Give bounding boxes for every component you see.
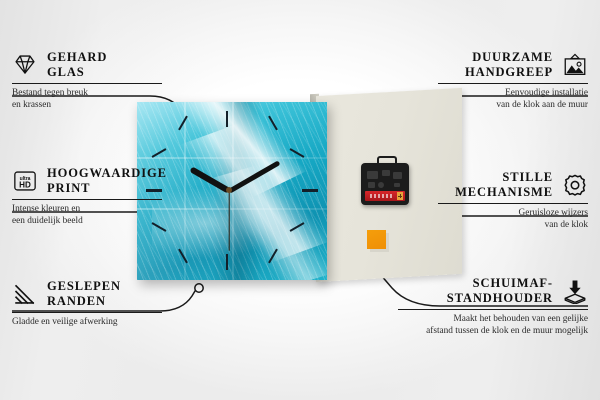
feature-desc-line1: Gladde en veilige afwerking (12, 317, 162, 328)
aa-battery (365, 191, 405, 201)
feature-title-line1: HOOGWAARDIGE (47, 166, 167, 181)
mechanism-detail (378, 182, 384, 188)
feature-title-line1: STILLE (455, 170, 553, 185)
feature-stille-mechanisme: STILLE MECHANISME Geruisloze wijzers van… (438, 170, 588, 231)
bevel-lines-icon (12, 281, 38, 307)
feature-title-line1: DUURZAME (465, 50, 553, 65)
mechanism-detail (382, 170, 390, 176)
feature-divider (438, 83, 588, 84)
feature-divider (398, 309, 588, 310)
feature-divider (12, 199, 162, 200)
mechanism-detail (367, 171, 378, 179)
diamond-icon (12, 52, 38, 78)
feature-desc-line1: Intense kleuren en (12, 204, 162, 215)
picture-frame-icon (562, 52, 588, 78)
feature-geslepen-randen: GESLEPEN RANDEN Gladde en veilige afwerk… (12, 279, 162, 329)
feature-title-line2: STANDHOUDER (447, 291, 553, 306)
feature-title-line1: SCHUIMAF- (447, 276, 553, 291)
gear-icon (562, 172, 588, 198)
feature-desc-line2: van de klok aan de muur (438, 100, 588, 111)
svg-text:HD: HD (19, 180, 31, 189)
infographic-canvas: GEHARD GLAS Bestand tegen breuk en krass… (0, 0, 600, 400)
clock-mechanism (361, 163, 409, 205)
ultra-hd-icon: ultra HD (12, 168, 38, 194)
feature-title-line2: GLAS (47, 65, 107, 80)
feature-divider (438, 203, 588, 204)
feature-hoogwaardige-print: ultra HD HOOGWAARDIGE PRINT Intense kleu… (12, 166, 162, 227)
feature-desc-line1: Bestand tegen breuk (12, 88, 162, 99)
feature-title-line2: HANDGREEP (465, 65, 553, 80)
feature-title-line2: RANDEN (47, 294, 121, 309)
feature-schuimaf-standhouder: SCHUIMAF- STANDHOUDER Maakt het behouden… (398, 276, 588, 337)
foam-spacer (367, 230, 386, 249)
press-down-pad-icon (562, 278, 588, 304)
feature-desc-line2: een duidelijk beeld (12, 216, 162, 227)
feature-gehard-glas: GEHARD GLAS Bestand tegen breuk en krass… (12, 50, 162, 111)
feature-divider (12, 83, 162, 84)
battery-plus-terminal (397, 192, 403, 200)
battery-label (370, 194, 394, 198)
hanger-tab (377, 156, 397, 167)
feature-desc-line2: en krassen (12, 100, 162, 111)
feature-title-line2: MECHANISME (455, 185, 553, 200)
feature-desc-line2: van de klok (438, 220, 588, 231)
feature-desc-line1: Eenvoudige installatie (438, 88, 588, 99)
product-group (120, 88, 460, 303)
feature-title-line1: GESLEPEN (47, 279, 121, 294)
feature-divider (12, 312, 162, 313)
feature-desc-line2: afstand tussen de klok en de muur mogeli… (398, 326, 588, 337)
feature-desc-line1: Maakt het behouden van een gelijke (398, 314, 588, 325)
feature-duurzame-handgreep: DUURZAME HANDGREEP Eenvoudige installati… (438, 50, 588, 111)
feature-desc-line1: Geruisloze wijzers (438, 208, 588, 219)
clock-hub (226, 187, 232, 193)
mechanism-detail (368, 182, 375, 188)
mechanism-detail (393, 172, 402, 179)
feature-title-line2: PRINT (47, 181, 167, 196)
mechanism-detail (394, 183, 400, 187)
feature-title-line1: GEHARD (47, 50, 107, 65)
